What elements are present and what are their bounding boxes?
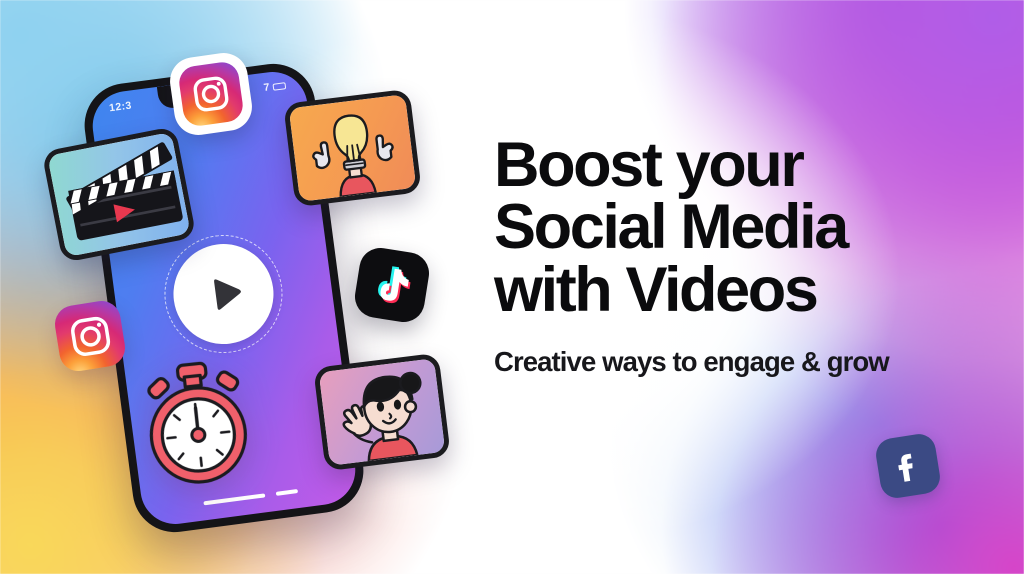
status-time: 12:3 (108, 99, 132, 114)
tiktok-note-icon (367, 260, 417, 310)
status-indicators: 7 (263, 79, 287, 94)
battery-icon (272, 82, 286, 91)
instagram-icon-framed[interactable] (167, 50, 255, 138)
page-subtitle: Creative ways to engage & grow (494, 346, 964, 378)
waving-person-icon (319, 358, 446, 465)
copy-block: Boost your Social Media with Videos Crea… (494, 134, 964, 378)
lightbulb-idea-card[interactable] (283, 89, 422, 208)
status-battery-label: 7 (263, 81, 271, 94)
facebook-f-icon (887, 445, 928, 486)
poster-canvas: 12:3 7 (0, 0, 1024, 574)
waving-person-card[interactable] (313, 353, 451, 472)
lightbulb-character-icon (289, 94, 417, 202)
stopwatch-icon (129, 350, 264, 494)
home-bar-long (203, 493, 265, 505)
page-title: Boost your Social Media with Videos (494, 134, 964, 321)
facebook-logo[interactable] (874, 432, 943, 501)
instagram-gradient-tile (177, 60, 245, 128)
clapperboard-icon (47, 132, 190, 257)
play-triangle-icon (201, 269, 250, 318)
home-bar-short (275, 489, 297, 496)
instagram-glyph-icon (188, 71, 233, 116)
instagram-icon-bare[interactable] (52, 298, 128, 374)
tiktok-icon[interactable] (352, 245, 432, 325)
instagram-glyph-icon (64, 310, 115, 361)
play-button[interactable] (157, 227, 289, 359)
